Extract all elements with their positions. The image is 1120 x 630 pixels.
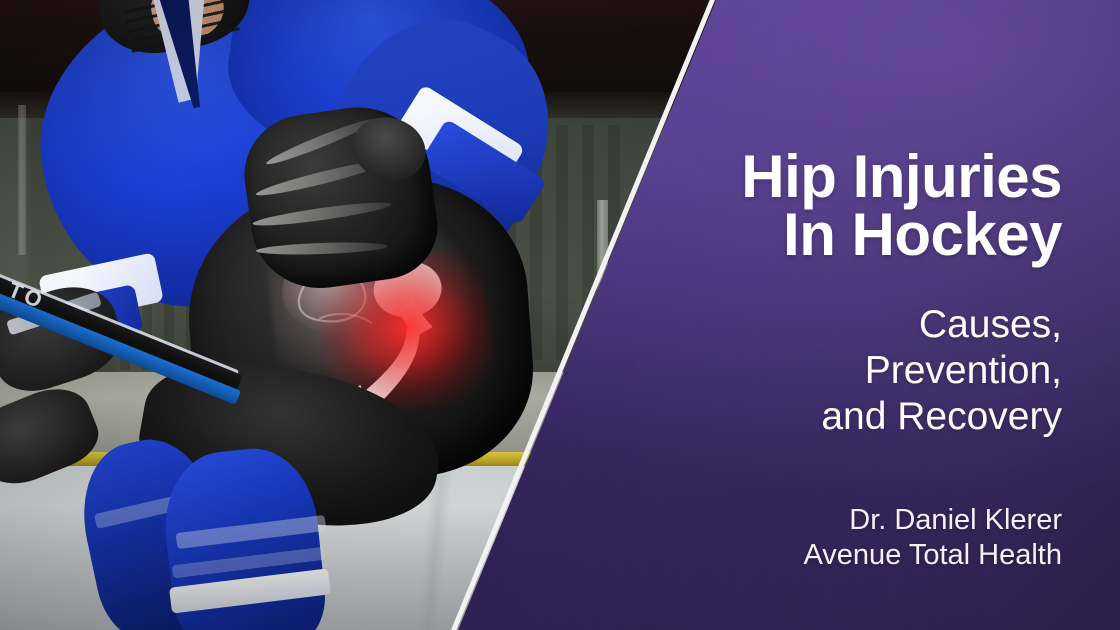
glass-post-4 xyxy=(18,105,26,255)
page-subtitle: Causes, Prevention, and Recovery xyxy=(632,302,1062,440)
title-line-2: In Hockey xyxy=(632,206,1062,264)
title-line-1: Hip Injuries xyxy=(632,148,1062,206)
hero-banner: TO Hip Injuries In Hockey Causes, Preven… xyxy=(0,0,1120,630)
subtitle-line-3: and Recovery xyxy=(632,394,1062,440)
byline-organization: Avenue Total Health xyxy=(632,538,1062,573)
subtitle-line-2: Prevention, xyxy=(632,348,1062,394)
byline-author: Dr. Daniel Klerer xyxy=(632,503,1062,538)
text-block: Hip Injuries In Hockey Causes, Preventio… xyxy=(632,0,1062,630)
subtitle-line-1: Causes, xyxy=(632,302,1062,348)
byline: Dr. Daniel Klerer Avenue Total Health xyxy=(632,503,1062,574)
page-title: Hip Injuries In Hockey xyxy=(632,148,1062,264)
